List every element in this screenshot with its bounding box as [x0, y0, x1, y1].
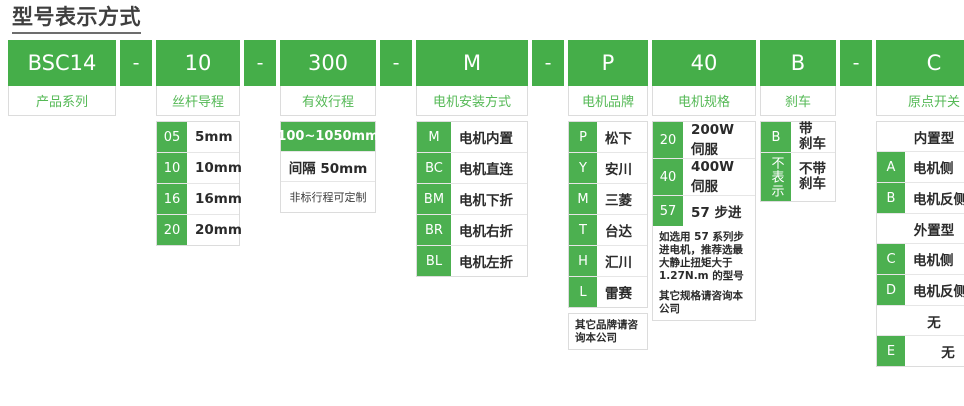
option-row[interactable]: 40400W 伺服 — [653, 159, 755, 196]
option-row[interactable]: 不表示不带刹车 — [761, 153, 835, 201]
column-brake: B刹车B带刹车不表示不带刹车 — [760, 40, 836, 202]
option-label-brake: 不带刹车 — [791, 153, 835, 201]
option-label-origin-switch: 电机侧 — [905, 244, 964, 274]
subheader-origin-switch: 无 — [877, 306, 964, 336]
subheader-origin-switch: 内置型 — [877, 122, 964, 152]
option-row[interactable]: M三菱 — [569, 184, 647, 215]
options-screw-lead: 055mm1010mm1616mm2020mm — [156, 121, 240, 246]
options-motor-spec: 20200W 伺服40400W 伺服5757 步进 — [652, 121, 756, 227]
column-motor-spec: 40电机规格20200W 伺服40400W 伺服5757 步进如选用 57 系列… — [652, 40, 756, 321]
column-dash-3: - — [380, 40, 412, 86]
column-dash-4: - — [532, 40, 564, 86]
option-label-motor-spec: 200W 伺服 — [683, 122, 755, 158]
option-row[interactable]: 1010mm — [157, 153, 239, 184]
option-label-screw-lead: 16mm — [187, 184, 250, 214]
code-cell-motor-spec: 40 — [652, 40, 756, 86]
option-row[interactable]: BR电机右折 — [417, 215, 527, 246]
code-cell-screw-lead: 10 — [156, 40, 240, 86]
category-label-product-series: 产品系列 — [8, 86, 116, 116]
column-motor-mount: M电机安装方式M电机内置BC电机直连BM电机下折BR电机右折BL电机左折 — [416, 40, 528, 277]
columns-container: BSC14产品系列-10丝杆导程055mm1010mm1616mm2020mm-… — [8, 40, 960, 367]
category-label-motor-spec: 电机规格 — [652, 86, 756, 116]
option-label-motor-brand: 雷赛 — [597, 277, 647, 307]
option-row[interactable]: 20200W 伺服 — [653, 122, 755, 159]
code-cell-effective-stroke: 300 — [280, 40, 376, 86]
code-cell-product-series: BSC14 — [8, 40, 116, 86]
column-motor-brand: P电机品牌P松下Y安川M三菱T台达H汇川L雷赛其它品牌请咨询本公司 — [568, 40, 648, 350]
options-origin-switch: 内置型A电机侧B电机反侧外置型C电机侧D电机反侧无E无 — [876, 121, 964, 367]
option-label-motor-spec: 57 步进 — [683, 196, 755, 226]
option-row[interactable]: M电机内置 — [417, 122, 527, 153]
row-effective-stroke: 间隔 50mm — [281, 152, 375, 182]
option-code-motor-mount: BL — [417, 246, 451, 276]
option-code-motor-brand: H — [569, 246, 597, 276]
option-row[interactable]: P松下 — [569, 122, 647, 153]
option-code-origin-switch: E — [877, 336, 905, 366]
option-label-motor-brand: 松下 — [597, 122, 647, 152]
category-label-origin-switch: 原点开关 — [876, 86, 964, 116]
option-row[interactable]: 2020mm — [157, 215, 239, 245]
model-designation-diagram: 型号表示方式 BSC14产品系列-10丝杆导程055mm1010mm1616mm… — [0, 0, 964, 406]
option-label-origin-switch: 电机反侧 — [905, 275, 964, 305]
option-label-origin-switch: 电机侧 — [905, 152, 964, 182]
category-label-motor-brand: 电机品牌 — [568, 86, 648, 116]
options-motor-mount: M电机内置BC电机直连BM电机下折BR电机右折BL电机左折 — [416, 121, 528, 277]
column-origin-switch: C原点开关内置型A电机侧B电机反侧外置型C电机侧D电机反侧无E无 — [876, 40, 964, 367]
option-label-motor-brand: 三菱 — [597, 184, 647, 214]
option-code-motor-brand: P — [569, 122, 597, 152]
option-label-motor-mount: 电机下折 — [451, 184, 527, 214]
code-cell-origin-switch: C — [876, 40, 964, 86]
option-row[interactable]: 055mm — [157, 122, 239, 153]
category-label-effective-stroke: 有效行程 — [280, 86, 376, 116]
note-motor-spec: 如选用 57 系列步进电机，推荐选最大静止扭矩大于1.27N.m 的型号其它规格… — [652, 226, 756, 321]
option-code-screw-lead: 20 — [157, 215, 187, 245]
option-code-motor-mount: BR — [417, 215, 451, 245]
code-cell-motor-mount: M — [416, 40, 528, 86]
code-cell-dash-5: - — [840, 40, 872, 86]
option-row[interactable]: E无 — [877, 336, 964, 366]
option-row[interactable]: Y安川 — [569, 153, 647, 184]
option-row[interactable]: L雷赛 — [569, 277, 647, 307]
option-label-brake: 带刹车 — [791, 122, 835, 152]
page-title: 型号表示方式 — [12, 4, 141, 34]
option-row[interactable]: BL电机左折 — [417, 246, 527, 276]
option-label-screw-lead: 5mm — [187, 122, 241, 152]
option-code-origin-switch: B — [877, 183, 905, 213]
option-row[interactable]: B电机反侧 — [877, 183, 964, 214]
note-motor-brand: 其它品牌请咨询本公司 — [568, 313, 648, 350]
option-label-motor-brand: 汇川 — [597, 246, 647, 276]
option-code-motor-spec: 57 — [653, 196, 683, 226]
category-label-brake: 刹车 — [760, 86, 836, 116]
option-label-motor-mount: 电机直连 — [451, 153, 527, 183]
option-code-origin-switch: C — [877, 244, 905, 274]
column-screw-lead: 10丝杆导程055mm1010mm1616mm2020mm — [156, 40, 240, 246]
option-row[interactable]: D电机反侧 — [877, 275, 964, 306]
option-code-motor-brand: Y — [569, 153, 597, 183]
option-code-screw-lead: 10 — [157, 153, 187, 183]
category-label-screw-lead: 丝杆导程 — [156, 86, 240, 116]
note-text-motor-spec: 如选用 57 系列步进电机，推荐选最大静止扭矩大于1.27N.m 的型号其它规格… — [653, 226, 755, 320]
row-effective-stroke: 非标行程可定制 — [281, 182, 375, 212]
option-row[interactable]: B带刹车 — [761, 122, 835, 153]
option-row[interactable]: 1616mm — [157, 184, 239, 215]
option-row[interactable]: H汇川 — [569, 246, 647, 277]
option-row[interactable]: BC电机直连 — [417, 153, 527, 184]
option-code-motor-mount: BC — [417, 153, 451, 183]
code-cell-dash-1: - — [120, 40, 152, 86]
option-code-motor-mount: BM — [417, 184, 451, 214]
option-label-screw-lead: 10mm — [187, 153, 250, 183]
option-row[interactable]: 5757 步进 — [653, 196, 755, 226]
column-dash-1: - — [120, 40, 152, 86]
column-dash-2: - — [244, 40, 276, 86]
option-code-motor-spec: 40 — [653, 159, 683, 195]
code-cell-dash-3: - — [380, 40, 412, 86]
code-cell-dash-4: - — [532, 40, 564, 86]
option-code-origin-switch: A — [877, 152, 905, 182]
code-cell-brake: B — [760, 40, 836, 86]
option-row[interactable]: T台达 — [569, 215, 647, 246]
option-code-origin-switch: D — [877, 275, 905, 305]
column-effective-stroke: 300有效行程100~1050mm间隔 50mm非标行程可定制 — [280, 40, 376, 213]
option-row[interactable]: A电机侧 — [877, 152, 964, 183]
options-effective-stroke: 100~1050mm间隔 50mm非标行程可定制 — [280, 121, 376, 213]
band-effective-stroke: 100~1050mm — [281, 122, 375, 152]
option-row[interactable]: C电机侧 — [877, 244, 964, 275]
option-code-motor-brand: M — [569, 184, 597, 214]
category-label-motor-mount: 电机安装方式 — [416, 86, 528, 116]
option-label-motor-mount: 电机左折 — [451, 246, 527, 276]
option-code-motor-brand: L — [569, 277, 597, 307]
option-row[interactable]: BM电机下折 — [417, 184, 527, 215]
code-cell-motor-brand: P — [568, 40, 648, 86]
option-label-motor-mount: 电机内置 — [451, 122, 527, 152]
options-brake: B带刹车不表示不带刹车 — [760, 121, 836, 202]
option-code-brake: B — [761, 122, 791, 152]
option-code-motor-spec: 20 — [653, 122, 683, 158]
code-cell-dash-2: - — [244, 40, 276, 86]
option-label-motor-brand: 台达 — [597, 215, 647, 245]
option-label-origin-switch: 电机反侧 — [905, 183, 964, 213]
option-code-screw-lead: 16 — [157, 184, 187, 214]
option-code-brake: 不表示 — [761, 153, 791, 201]
option-label-screw-lead: 20mm — [187, 215, 250, 245]
option-code-screw-lead: 05 — [157, 122, 187, 152]
option-label-origin-switch: 无 — [905, 336, 964, 366]
subheader-origin-switch: 外置型 — [877, 214, 964, 244]
column-dash-5: - — [840, 40, 872, 86]
option-code-motor-brand: T — [569, 215, 597, 245]
option-label-motor-spec: 400W 伺服 — [683, 159, 755, 195]
note-text-motor-brand: 其它品牌请咨询本公司 — [569, 314, 647, 349]
option-code-motor-mount: M — [417, 122, 451, 152]
option-label-motor-brand: 安川 — [597, 153, 647, 183]
column-product-series: BSC14产品系列 — [8, 40, 116, 116]
options-motor-brand: P松下Y安川M三菱T台达H汇川L雷赛 — [568, 121, 648, 308]
option-label-motor-mount: 电机右折 — [451, 215, 527, 245]
